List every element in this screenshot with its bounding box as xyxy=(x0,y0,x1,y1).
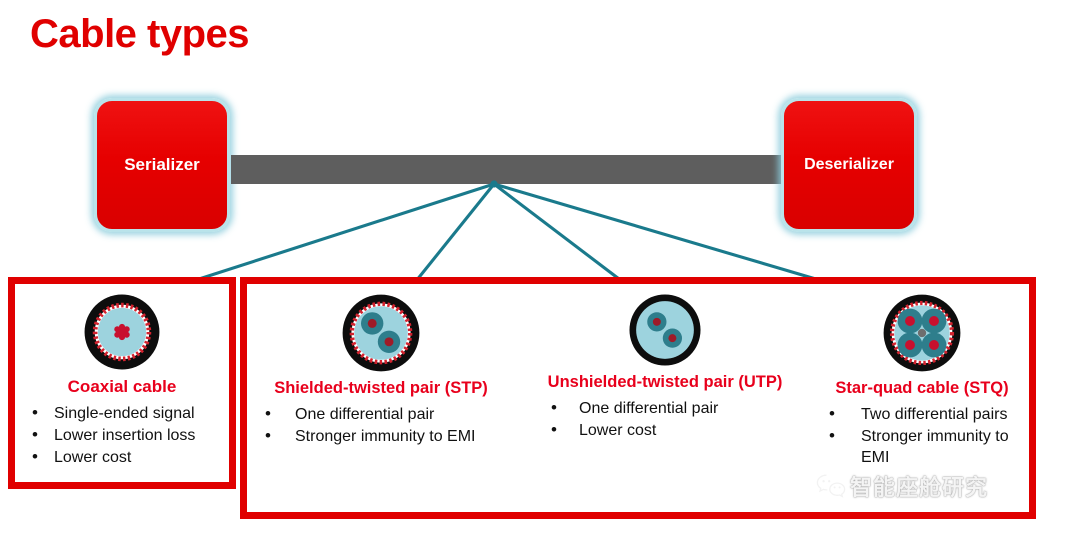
cable-card-coaxial: Coaxial cable Single-ended signal Lower … xyxy=(10,293,234,469)
deserializer-block: Deserializer xyxy=(781,98,917,232)
cable-card-utp: Unshielded-twisted pair (UTP) One differ… xyxy=(521,293,809,442)
stq-cross-section-icon xyxy=(882,293,962,373)
cable-title-stq: Star-quad cable (STQ) xyxy=(811,379,1033,398)
cable-card-stp: Shielded-twisted pair (STP) One differen… xyxy=(247,293,515,448)
deserializer-label: Deserializer xyxy=(804,156,894,174)
list-item: One differential pair xyxy=(247,404,515,425)
serializer-label: Serializer xyxy=(124,155,200,175)
coaxial-cross-section-icon xyxy=(83,293,161,371)
list-item: Stronger immunity to EMI xyxy=(247,426,515,447)
utp-cross-section-icon xyxy=(628,293,702,367)
list-item: Single-ended signal xyxy=(10,403,234,424)
list-item: Lower cost xyxy=(10,447,234,468)
cable-bullets-stq: Two differential pairs Stronger immunity… xyxy=(811,404,1033,468)
cable-title-stp: Shielded-twisted pair (STP) xyxy=(247,379,515,398)
page-title: Cable types xyxy=(30,12,249,56)
list-item: Two differential pairs xyxy=(811,404,1033,425)
cable-bullets-stp: One differential pair Stronger immunity … xyxy=(247,404,515,447)
cable-bullets-coaxial: Single-ended signal Lower insertion loss… xyxy=(10,403,234,468)
list-item: Lower cost xyxy=(521,420,809,441)
slide-canvas: Cable types Serializer Deserializer xyxy=(0,0,1070,542)
cable-title-utp: Unshielded-twisted pair (UTP) xyxy=(521,373,809,392)
cable-bullets-utp: One differential pair Lower cost xyxy=(521,398,809,441)
serializer-block: Serializer xyxy=(94,98,230,232)
list-item: Lower insertion loss xyxy=(10,425,234,446)
cable-card-stq: Star-quad cable (STQ) Two differential p… xyxy=(811,293,1033,469)
list-item: One differential pair xyxy=(521,398,809,419)
list-item: Stronger immunity to EMI xyxy=(811,426,1033,468)
cable-title-coaxial: Coaxial cable xyxy=(10,377,234,397)
stp-cross-section-icon xyxy=(341,293,421,373)
cable-bar xyxy=(231,155,782,184)
